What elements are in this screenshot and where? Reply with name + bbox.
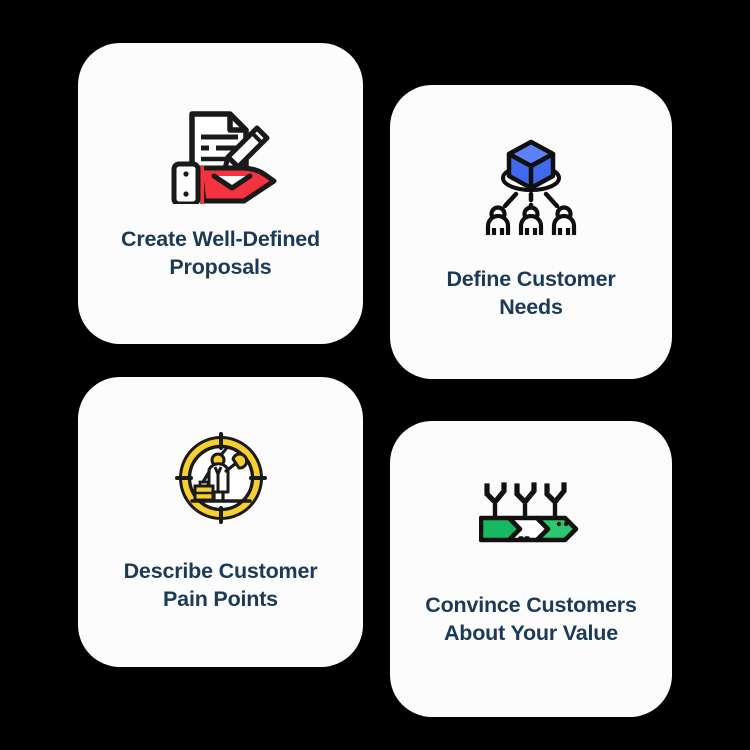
- card-title: Describe Customer Pain Points: [110, 558, 332, 614]
- checkmarks-over-arrows-icon: [479, 482, 583, 544]
- cube-over-people-icon: [481, 138, 581, 236]
- target-crosshair-businessman-icon: [171, 428, 271, 528]
- card-title: Create Well-Defined Proposals: [107, 226, 334, 282]
- card-describe-customer-pain-points[interactable]: Describe Customer Pain Points: [78, 377, 363, 667]
- card-define-customer-needs[interactable]: Define Customer Needs: [390, 85, 672, 379]
- card-title: Convince Customers About Your Value: [411, 592, 650, 648]
- card-convince-customers-about-your-value[interactable]: Convince Customers About Your Value: [390, 421, 672, 717]
- cards-grid: Create Well-Defined Proposals: [0, 0, 750, 750]
- card-title: Define Customer Needs: [432, 266, 629, 322]
- document-in-hand-icon: [162, 100, 280, 204]
- card-create-well-defined-proposals[interactable]: Create Well-Defined Proposals: [78, 43, 363, 344]
